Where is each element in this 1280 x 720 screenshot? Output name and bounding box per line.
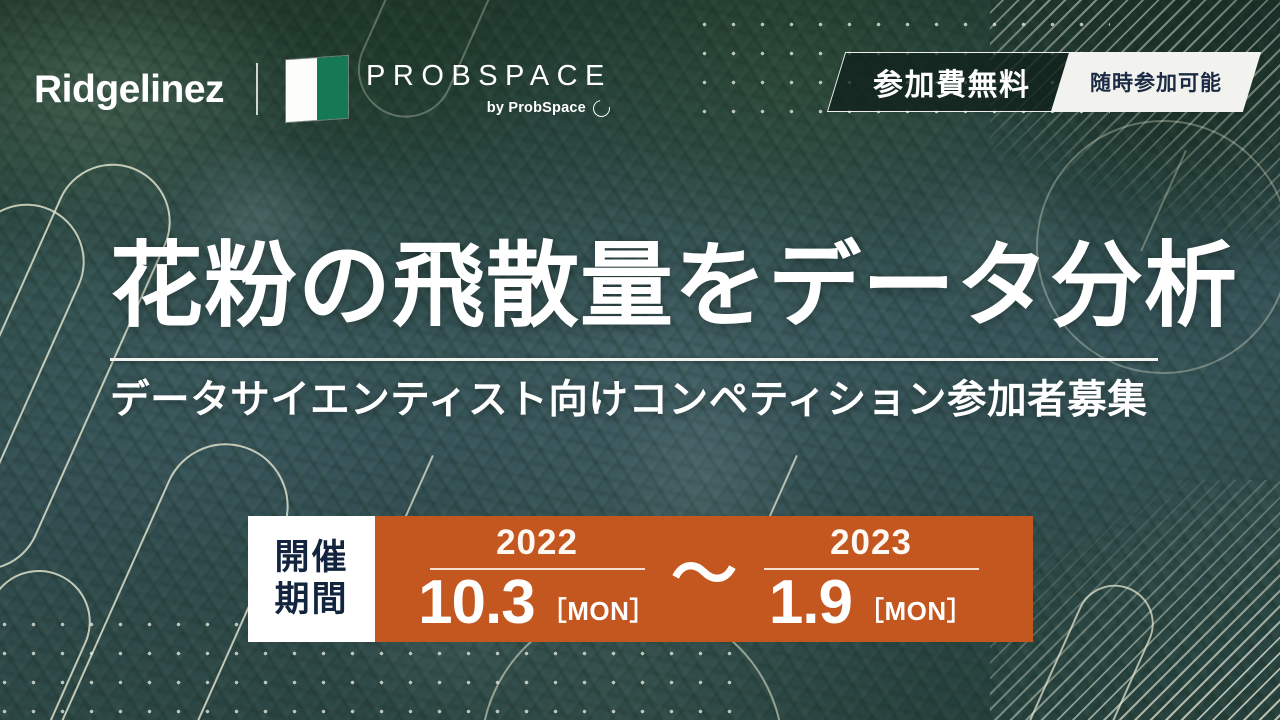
- event-start-day: 10.3: [418, 572, 535, 634]
- probspace-text-block: PROBSPACE by ProbSpace: [366, 62, 612, 117]
- event-period-label: 開催 期間: [248, 516, 375, 642]
- event-period-label-line2: 期間: [274, 581, 348, 620]
- event-period-band: 開催 期間 2022 10.3 ［MON］ 〜 2023 1.9 ［MON］: [248, 516, 1033, 642]
- logo-divider: [256, 63, 258, 115]
- badge-anytime-join: 随時参加可能: [1051, 52, 1261, 112]
- event-start-weekday: ［MON］: [541, 598, 656, 624]
- event-start-main: 10.3 ［MON］: [418, 572, 656, 634]
- hero-copy: 花粉の飛散量をデータ分析 データサイエンティスト向けコンペティション参加者募集: [110, 236, 1170, 423]
- page-title: 花粉の飛散量をデータ分析: [110, 236, 1170, 336]
- event-period-label-line1: 開催: [274, 539, 348, 578]
- split-square-left-half: [286, 58, 317, 122]
- probspace-byline: by ProbSpace: [487, 100, 610, 117]
- logo-lockup: Ridgelinez PROBSPACE by ProbSpace: [34, 58, 612, 120]
- badge-free-entry: 参加費無料: [826, 52, 1070, 112]
- event-end-date: 2023 1.9 ［MON］: [747, 525, 995, 634]
- event-end-day: 1.9: [769, 572, 852, 634]
- probspace-logo: PROBSPACE by ProbSpace: [286, 58, 612, 120]
- ridgelinez-wordmark: Ridgelinez: [34, 70, 224, 109]
- badge-anytime-join-label: 随時参加可能: [1090, 67, 1222, 97]
- date-range-separator: 〜: [669, 542, 739, 608]
- ring-icon: [590, 96, 614, 120]
- event-period-dates: 2022 10.3 ［MON］ 〜 2023 1.9 ［MON］: [375, 516, 1033, 642]
- promo-badge: 参加費無料 随時参加可能: [836, 52, 1253, 112]
- probspace-byline-text: by ProbSpace: [487, 100, 586, 116]
- split-square-icon: [286, 56, 348, 122]
- badge-free-entry-label: 参加費無料: [873, 60, 1031, 104]
- page-subtitle: データサイエンティスト向けコンペティション参加者募集: [110, 379, 1170, 422]
- event-end-main: 1.9 ［MON］: [769, 572, 973, 634]
- event-start-date: 2022 10.3 ［MON］: [413, 525, 661, 634]
- event-end-year: 2023: [830, 525, 912, 560]
- probspace-wordmark: PROBSPACE: [366, 62, 612, 91]
- split-square-right-half: [317, 56, 348, 120]
- title-divider: [110, 358, 1158, 361]
- campaign-banner: Ridgelinez PROBSPACE by ProbSpace 参加費無料 …: [0, 0, 1280, 720]
- event-start-year: 2022: [496, 525, 578, 560]
- event-end-weekday: ［MON］: [858, 598, 973, 624]
